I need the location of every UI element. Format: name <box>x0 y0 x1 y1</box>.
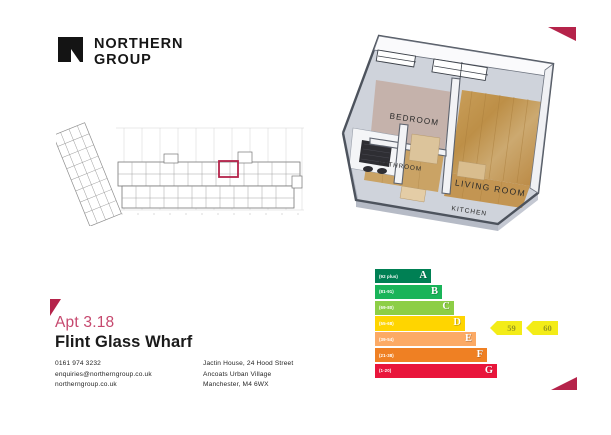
epc-band-letter-g: G <box>485 366 493 377</box>
epc-band-range-c: (69-80) <box>379 305 394 310</box>
epc-band-letter-e: E <box>465 334 472 345</box>
contact-phone: 0161 974 3232 <box>55 359 152 370</box>
brand-wordmark: NORTHERN GROUP <box>94 37 183 68</box>
epc-band-c: (69-80)C <box>375 301 454 315</box>
contact-website[interactable]: northerngroup.co.uk <box>55 380 152 391</box>
epc-band-a: (92 plus)A <box>375 269 431 283</box>
address-line-2: Ancoats Urban Village <box>203 370 293 381</box>
brand-logo: NORTHERN GROUP <box>58 37 183 68</box>
energy-efficiency-rating-chart: (92 plus)A(81-91)B(69-80)C(55-68)D(39-54… <box>375 269 495 379</box>
epc-band-range-f: (21-38) <box>379 353 394 358</box>
epc-band-letter-f: F <box>477 350 483 361</box>
brand-wordmark-line2: GROUP <box>94 53 183 69</box>
epc-band-d: (55-68)D <box>375 316 465 330</box>
office-address: Jactin House, 24 Hood Street Ancoats Urb… <box>203 359 293 391</box>
epc-band-range-g: (1-20) <box>379 368 391 373</box>
epc-band-e: (39-54)E <box>375 332 476 346</box>
brand-wordmark-line1: NORTHERN <box>94 37 183 53</box>
epc-band-f: (21-38)F <box>375 348 487 362</box>
epc-band-range-b: (81-91) <box>379 289 394 294</box>
epc-band-range-e: (39-54) <box>379 337 394 342</box>
contact-details: 0161 974 3232 enquiries@northerngroup.co… <box>55 359 152 391</box>
epc-band-letter-c: C <box>442 302 450 313</box>
epc-band-letter-b: B <box>431 287 438 298</box>
epc-band-g: (1-20)G <box>375 364 497 378</box>
contact-email[interactable]: enquiries@northerngroup.co.uk <box>55 370 152 381</box>
accent-triangle-bottom-right <box>551 377 577 390</box>
address-line-3: Manchester, M4 6WX <box>203 380 293 391</box>
brochure-page: NORTHERN GROUP <box>0 0 611 435</box>
epc-band-letter-d: D <box>453 318 461 329</box>
epc-badge-current: 59 <box>497 321 522 335</box>
apartment-number: Apt 3.18 <box>55 314 114 332</box>
epc-band-b: (81-91)B <box>375 285 442 299</box>
development-name: Flint Glass Wharf <box>55 333 192 352</box>
building-key-plan <box>56 114 328 226</box>
epc-band-letter-a: A <box>419 271 427 282</box>
address-line-1: Jactin House, 24 Hood Street <box>203 359 293 370</box>
epc-band-range-d: (55-68) <box>379 321 394 326</box>
epc-rating-badges: 5960 <box>497 321 558 335</box>
epc-badge-potential: 60 <box>533 321 558 335</box>
epc-band-range-a: (92 plus) <box>379 274 398 279</box>
northern-group-square-mark-icon <box>58 37 83 62</box>
apartment-3d-floorplan: BEDROOM LIVING ROOM KITCHEN BATHROOM <box>316 28 596 233</box>
logo-notch-icon <box>71 49 80 62</box>
